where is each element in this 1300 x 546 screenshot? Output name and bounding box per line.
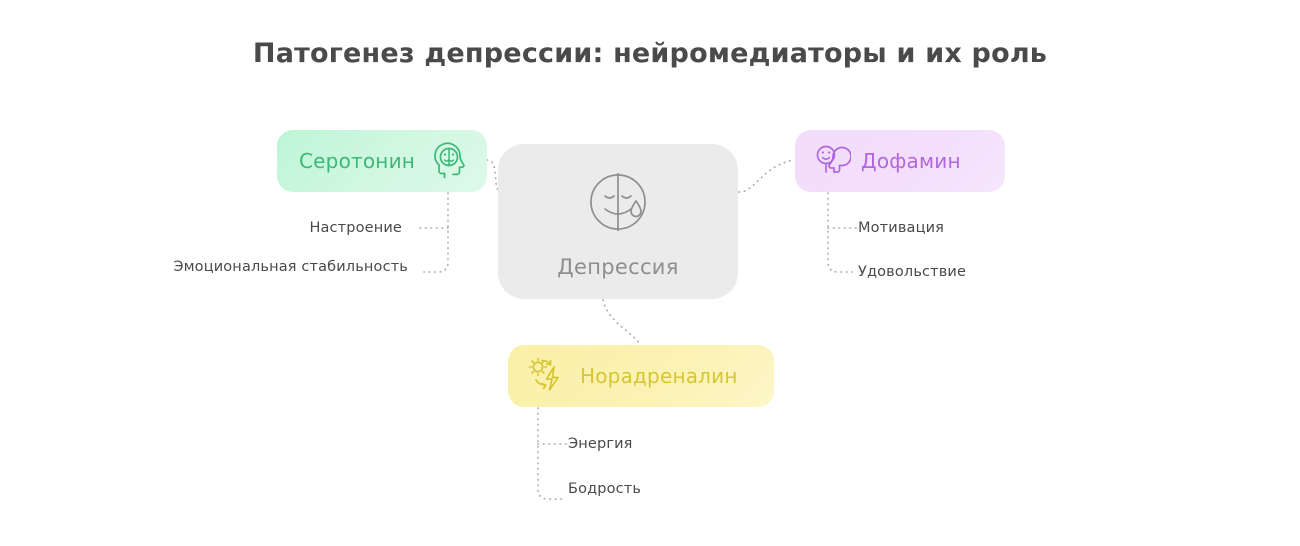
sublabel-dofamin-motivation: Мотивация: [858, 220, 944, 236]
head-with-face-in-brain-icon: [431, 141, 471, 181]
sublabel-dofamin-pleasure: Удовольствие: [858, 264, 966, 280]
node-dofamin-label: Дофамин: [861, 149, 961, 173]
half-happy-half-sad-face-with-tear-icon: [581, 165, 655, 239]
connector-serotonin-subtree: [424, 193, 448, 272]
connector-central-to-noradrenalin: [603, 300, 641, 345]
connector-central-to-dofamin: [739, 160, 795, 192]
node-serotonin-label: Серотонин: [299, 149, 415, 173]
connector-dofamin-subtree: [828, 193, 852, 272]
diagram-canvas: Патогенез депрессии: нейромедиаторы и их…: [0, 0, 1300, 546]
node-dofamin[interactable]: Дофамин: [795, 130, 1005, 192]
sun-with-lightning-bolt-icon: [524, 354, 568, 398]
sublabel-noradrenalin-energy: Энергия: [568, 436, 633, 452]
central-node-label: Депрессия: [557, 255, 678, 279]
sublabel-noradrenalin-vigor: Бодрость: [568, 481, 641, 497]
node-noradrenalin[interactable]: Норадреналин: [508, 345, 774, 407]
page-title: Патогенез депрессии: нейромедиаторы и их…: [0, 38, 1300, 69]
sublabel-serotonin-mood: Настроение: [309, 220, 402, 236]
central-node-depression[interactable]: Депрессия: [498, 144, 738, 299]
node-serotonin[interactable]: Серотонин: [277, 130, 487, 192]
node-noradrenalin-label: Норадреналин: [580, 364, 738, 388]
head-with-smiley-face-icon: [811, 141, 851, 181]
connector-noradrenalin-subtree: [538, 408, 562, 499]
sublabel-serotonin-emotional-stability: Эмоциональная стабильность: [173, 259, 408, 275]
